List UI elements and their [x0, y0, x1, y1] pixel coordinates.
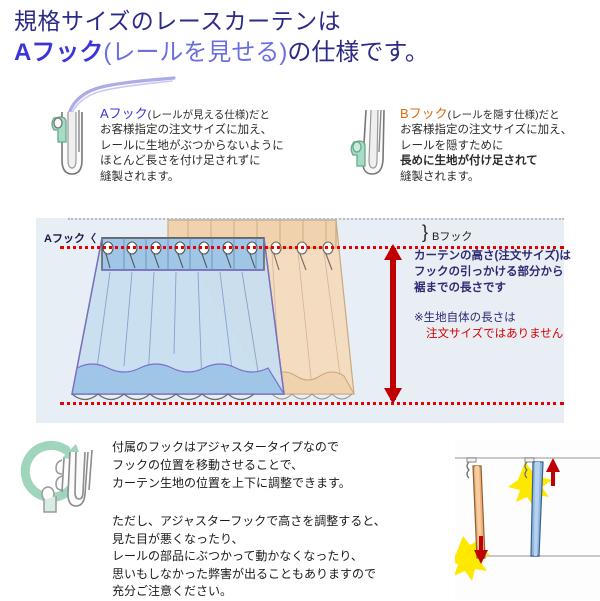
order-size-warning: ※生地自体の長さは 注文サイズではありません [414, 310, 598, 342]
b-hook-icon [344, 106, 396, 182]
rail-collision-illustration [455, 440, 600, 600]
infographic-page: 規格サイズのレースカーテンは Aフック(レールを見せる)の仕様です。 Aフック(… [0, 0, 600, 600]
title-line-1: 規格サイズのレースカーテンは [14, 6, 594, 36]
diagram-label-b: Bフック [432, 228, 472, 244]
hook-a-line-2: ほとんど長さを付け足されずに [100, 154, 320, 169]
front-curtain-a-hook [72, 238, 284, 400]
warning-line-2: 注文サイズではありません [414, 326, 598, 342]
diagram-brace-b: } [422, 222, 428, 243]
caution-line-3: 思いもしなかった弊害が出ることもありますので [112, 566, 442, 584]
diagram-label-a: Aフック〈 [44, 230, 96, 246]
caution-description: ただし、アジャスターフックで高さを調整すると、 見た目が悪くなったり、 レールの… [112, 513, 442, 601]
hook-a-heading-paren: (レールが見える仕様)だと [148, 109, 270, 121]
a-hook-icon [44, 106, 96, 182]
hook-b-text: Bフック(レールを隠す仕様)だと お客様指定の注文サイズに加え、 レールを隠すた… [400, 106, 600, 185]
hook-b-line-2: 長めに生地が付け足されて [400, 154, 600, 169]
note-line-2: 裾までの長さです [414, 280, 598, 296]
title-paren: (レールを見せる) [103, 39, 287, 66]
caution-line-2: レールの部品にぶつかって動かなくなったり、 [112, 548, 442, 566]
adjuster-description: 付属のフックはアジャスタータイプなので フックの位置を移動させることで、 カーテ… [112, 438, 442, 492]
page-title: 規格サイズのレースカーテンは Aフック(レールを見せる)の仕様です。 [14, 6, 594, 69]
note-line-1: フックの引っかける部分から [414, 264, 598, 280]
hook-a-line-1: レールに生地がぶつからないように [100, 139, 320, 154]
hook-a-line-3: 縫製されます。 [100, 170, 320, 185]
adjuster-line-1: フックの位置を移動させることで、 [112, 456, 442, 474]
caution-line-0: ただし、アジャスターフックで高さを調整すると、 [112, 513, 442, 531]
curtain-diagram: Aフック〈 } Bフック カーテンの高さ(注文サイズ)は フックの引っかける部分… [36, 218, 564, 426]
hook-b-heading-paren: (レールを隠す仕様)だと [448, 109, 560, 121]
title-hook-label: Aフック [14, 39, 103, 66]
caution-line-1: 見た目が悪くなったり、 [112, 531, 442, 549]
title-rest: の仕様です。 [287, 39, 429, 66]
order-size-note: カーテンの高さ(注文サイズ)は フックの引っかける部分から 裾までの長さです ※… [414, 248, 598, 342]
hook-b-line-3: 縫製されます。 [400, 170, 600, 185]
caution-line-4: 充分ご注意ください。 [112, 583, 442, 601]
warning-line-1: ※生地自体の長さは [414, 310, 598, 326]
hem-level-guide-line [60, 402, 564, 405]
hook-b-line-0: お客様指定の注文サイズに加え、 [400, 123, 600, 138]
hook-a-text: Aフック(レールが見える仕様)だと お客様指定の注文サイズに加え、 レールに生地… [100, 106, 320, 185]
adjuster-line-0: 付属のフックはアジャスタータイプなので [112, 438, 442, 456]
note-line-0: カーテンの高さ(注文サイズ)は [414, 248, 598, 264]
title-line-2: Aフック(レールを見せる)の仕様です。 [14, 37, 594, 69]
hook-a-heading: Aフック [100, 106, 148, 121]
diagram-top-dotted-line [68, 218, 564, 220]
adjuster-line-2: カーテン生地の位置を上下に調整できます。 [112, 474, 442, 492]
adjuster-hook-rotate-icon [18, 436, 114, 522]
hook-b-heading: Bフック [400, 106, 448, 121]
hook-a-line-0: お客様指定の注文サイズに加え、 [100, 123, 320, 138]
order-size-measure-arrow [382, 244, 404, 404]
hook-b-line-1: レールを隠すために [400, 139, 600, 154]
